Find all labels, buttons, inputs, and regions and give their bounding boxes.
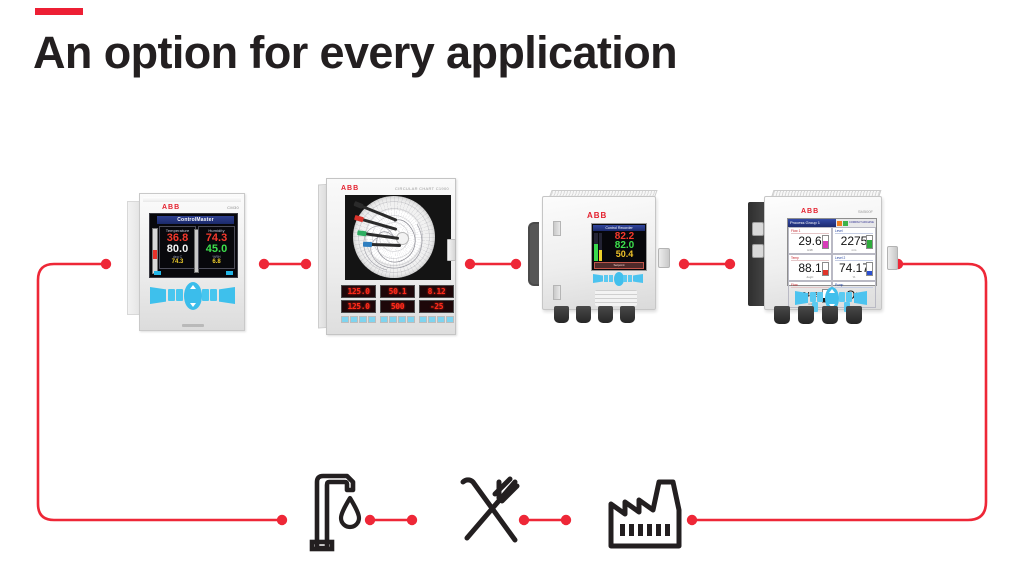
device-3-grille <box>595 290 637 306</box>
tile-bargraph <box>822 262 829 276</box>
tile-bargraph <box>866 262 873 276</box>
keypad-left-wing-button[interactable] <box>593 274 603 283</box>
keypad-button-3[interactable] <box>202 289 209 301</box>
flow-dot <box>407 515 417 525</box>
flow-dot <box>277 515 287 525</box>
flow-dot <box>725 259 735 269</box>
flow-dot <box>679 259 689 269</box>
device-3-screen-footer: Setpoint <box>594 262 644 269</box>
led-module-buttons[interactable] <box>341 316 376 323</box>
device-3-handle[interactable] <box>528 222 539 286</box>
device-2-model-label: CIRCULAR CHART C1900 <box>395 186 449 191</box>
keypad-button-2[interactable] <box>817 292 823 302</box>
device-3-keypad[interactable] <box>593 272 643 286</box>
tile-bargraph <box>822 235 829 249</box>
keypad-button-3[interactable] <box>623 275 627 282</box>
device-4-screen-title: Process Group 1 <box>788 219 836 227</box>
cable-gland <box>576 306 591 323</box>
circular-chart-recorder[interactable]: ABB CIRCULAR CHART C1900 <box>318 178 460 336</box>
keypad-right-wing-button[interactable] <box>219 287 235 304</box>
keypad-nav-pad[interactable] <box>184 282 202 310</box>
value-yellow: 50.4 <box>604 250 645 259</box>
device-4-status-icons: COMPACT ARCHIVE <box>836 219 876 227</box>
cable-gland <box>554 306 569 323</box>
led-display-upper: 125.0 <box>341 285 376 298</box>
flow-dot <box>561 515 571 525</box>
device-4-enclosure: ABB SM500F Process Group 1 COMPACT ARCHI… <box>764 196 882 310</box>
keypad-button-2[interactable] <box>609 275 613 282</box>
recorder-pen-blue <box>363 243 401 247</box>
keypad-left-wing-button[interactable] <box>150 287 166 304</box>
device-2-door: ABB CIRCULAR CHART C1900 <box>326 178 456 335</box>
flow-dot <box>465 259 475 269</box>
keypad-button-4[interactable] <box>628 275 632 282</box>
led-display-upper: 50.1 <box>380 285 415 298</box>
abb-logo: ABB <box>162 204 180 211</box>
food-and-beverage-icon <box>455 472 525 555</box>
channel-value-tertiary: 6.8 <box>201 259 232 266</box>
device-3-side-knob[interactable] <box>658 248 670 268</box>
keypad-right-wing-button[interactable] <box>633 274 643 283</box>
device-1-screen-title: ControlMaster <box>157 216 234 224</box>
process-tile[interactable]: Temp 88.1 degC <box>788 254 832 281</box>
device-1-left-bargraph <box>152 228 158 274</box>
hinge-top <box>553 221 561 236</box>
hinge-bottom <box>553 285 561 300</box>
device-4-screen[interactable]: Process Group 1 COMPACT ARCHIVE Flow 1 2… <box>787 218 877 286</box>
device-3-values: 82.2 82.0 50.4 <box>604 232 645 259</box>
flow-dot <box>511 259 521 269</box>
device-2-chart-window <box>345 195 451 280</box>
device-3-enclosure: ABB Control Recorder 82.2 82.0 50.4 Setp… <box>542 196 656 310</box>
cable-gland <box>846 306 862 324</box>
keypad-button-1[interactable] <box>168 289 175 301</box>
cable-gland <box>822 306 838 324</box>
alarm-icon <box>837 221 842 226</box>
abb-logo: ABB <box>587 211 607 220</box>
controlmaster-panel-indicator[interactable]: ABB CM30 ControlMaster Temperature 36.8 … <box>127 193 243 329</box>
tile-bargraph <box>866 235 873 249</box>
led-module: 8.12 -25 <box>419 285 454 329</box>
water-tap-icon <box>303 468 369 557</box>
cable-gland <box>798 306 814 324</box>
mounting-clip-top <box>752 222 764 236</box>
led-module-buttons[interactable] <box>380 316 415 323</box>
device-2-led-panel: 125.0 125.0 50.1 500 8.12 -25 <box>341 285 449 329</box>
device-1-keypad[interactable] <box>150 282 235 312</box>
keypad-button-3[interactable] <box>839 292 845 302</box>
device-1-foot <box>182 324 204 327</box>
flow-dot <box>259 259 269 269</box>
device-4-model-label: SM500F <box>858 209 873 214</box>
keypad-left-wing-button[interactable] <box>795 291 808 305</box>
led-display-lower: -25 <box>419 300 454 313</box>
wall-mount-transmitter[interactable]: ABB Control Recorder 82.2 82.0 50.4 Setp… <box>528 190 668 338</box>
process-tile[interactable]: Level 2275 mm <box>832 227 876 254</box>
cable-gland <box>598 306 613 323</box>
device-1-bezel: ABB CM30 ControlMaster Temperature 36.8 … <box>139 193 245 331</box>
process-tile[interactable]: Flow 1 29.6 m3/h <box>788 227 832 254</box>
keypad-button-2[interactable] <box>176 289 183 301</box>
device-3-bargraphs <box>594 233 602 261</box>
device-1-channel-humidity: Humidity 74.3 45.0 %RH 6.8 <box>198 226 235 269</box>
led-module-buttons[interactable] <box>419 316 454 323</box>
device-4-side-knob[interactable] <box>887 246 898 270</box>
abb-logo: ABB <box>341 185 359 192</box>
keypad-button-1[interactable] <box>810 292 816 302</box>
keypad-button-4[interactable] <box>210 289 217 301</box>
led-display-upper: 8.12 <box>419 285 454 298</box>
keypad-button-1[interactable] <box>604 275 608 282</box>
abb-logo: ABB <box>801 208 819 215</box>
device-4-screen-header: Process Group 1 COMPACT ARCHIVE <box>788 219 876 227</box>
channel-value-secondary: 80.0 <box>162 244 193 255</box>
device-3-screen[interactable]: Control Recorder 82.2 82.0 50.4 Setpoint <box>591 223 647 271</box>
channel-value-secondary: 45.0 <box>201 244 232 255</box>
device-1-channel-temperature: Temperature 36.8 80.0 deg C 74.3 <box>159 226 196 269</box>
keypad-right-wing-button[interactable] <box>854 291 867 305</box>
archive-status: COMPACT ARCHIVE <box>849 222 874 225</box>
device-1-model-label: CM30 <box>227 205 239 210</box>
status-chip-right <box>226 271 233 275</box>
process-recorder[interactable]: ABB SM500F Process Group 1 COMPACT ARCHI… <box>748 190 898 340</box>
led-module: 50.1 500 <box>380 285 415 329</box>
channel-value-tertiary: 74.3 <box>162 259 193 266</box>
led-module: 125.0 125.0 <box>341 285 376 329</box>
led-display-lower: 500 <box>380 300 415 313</box>
ok-icon <box>843 221 848 226</box>
device-4-tile-grid: Flow 1 29.6 m3/h Level 2275 mm Temp 88.1 <box>788 227 876 285</box>
keypad-button-4[interactable] <box>846 292 852 302</box>
cable-gland <box>620 306 635 323</box>
device-1-top-trim <box>143 197 241 202</box>
slide-canvas: An option for every application ABB <box>0 0 1024 566</box>
led-display-lower: 125.0 <box>341 300 376 313</box>
cable-gland <box>774 306 790 324</box>
device-1-screen[interactable]: ControlMaster Temperature 36.8 80.0 deg … <box>149 213 238 278</box>
process-tile[interactable]: Level 2 74.17 % <box>832 254 876 281</box>
flow-dot <box>101 259 111 269</box>
mounting-clip-bottom <box>752 244 764 258</box>
status-chip-left <box>154 271 161 275</box>
flow-dot <box>301 259 311 269</box>
device-1-status-bar <box>152 270 235 276</box>
door-latch[interactable] <box>447 239 456 261</box>
factory-icon <box>607 478 693 555</box>
